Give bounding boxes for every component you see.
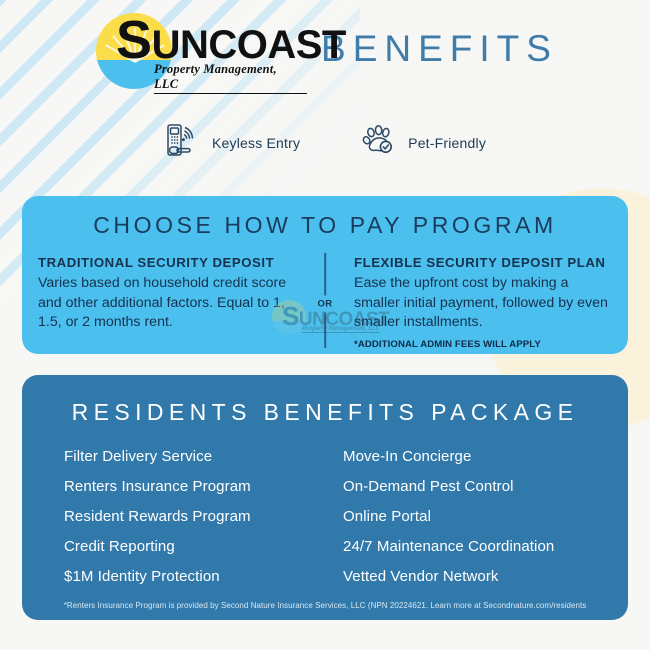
feature-pet-friendly: Pet-Friendly xyxy=(360,120,486,165)
pay-or-label: OR xyxy=(313,296,336,313)
pay-option-body: Varies based on household credit score a… xyxy=(38,274,296,333)
page-title: BENEFITS xyxy=(321,28,558,70)
feature-label: Keyless Entry xyxy=(212,135,300,151)
pay-option-traditional: TRADITIONAL SECURITY DEPOSIT Varies base… xyxy=(38,255,322,350)
pay-option-note: *ADDITIONAL ADMIN FEES WILL APPLY xyxy=(354,339,612,350)
residents-benefits-package-card: RESIDENTS BENEFITS PACKAGE Filter Delive… xyxy=(22,375,628,620)
list-item: 24/7 Maintenance Coordination xyxy=(343,538,586,555)
list-item: On-Demand Pest Control xyxy=(343,478,586,495)
pay-program-title: CHOOSE HOW TO PAY PROGRAM xyxy=(38,212,612,239)
paw-check-icon xyxy=(360,120,400,165)
list-item: Resident Rewards Program xyxy=(64,508,307,525)
list-item: Move-In Concierge xyxy=(343,448,586,465)
logo-wordmark: SUNCOAST xyxy=(116,17,346,65)
pay-option-body: Ease the upfront cost by making a smalle… xyxy=(354,274,612,333)
logo-word-rest: UNCOAST xyxy=(152,23,346,67)
rbp-disclaimer: *Renters Insurance Program is provided b… xyxy=(22,601,628,610)
rbp-right-column: Move-In Concierge On-Demand Pest Control… xyxy=(307,448,586,585)
pay-option-heading: FLEXIBLE SECURITY DEPOSIT PLAN xyxy=(354,255,612,270)
list-item: Filter Delivery Service xyxy=(64,448,307,465)
feature-badges: Keyless Entry Pet-Friendly xyxy=(0,120,650,165)
list-item: Renters Insurance Program xyxy=(64,478,307,495)
logo-tagline: Property Management, LLC xyxy=(154,62,307,94)
choose-how-to-pay-card: CHOOSE HOW TO PAY PROGRAM OR TRADITIONAL… xyxy=(22,196,628,354)
pay-options: OR TRADITIONAL SECURITY DEPOSIT Varies b… xyxy=(38,255,612,350)
list-item: Credit Reporting xyxy=(64,538,307,555)
rbp-title: RESIDENTS BENEFITS PACKAGE xyxy=(42,399,608,426)
rbp-benefit-lists: Filter Delivery Service Renters Insuranc… xyxy=(42,448,608,585)
pay-option-flexible: FLEXIBLE SECURITY DEPOSIT PLAN Ease the … xyxy=(322,255,612,350)
pay-option-heading: TRADITIONAL SECURITY DEPOSIT xyxy=(38,255,296,270)
list-item: Vetted Vendor Network xyxy=(343,568,586,585)
feature-label: Pet-Friendly xyxy=(408,135,486,151)
keypad-lock-icon xyxy=(164,120,204,165)
list-item: Online Portal xyxy=(343,508,586,525)
page-header: SUNCOAST Property Management, LLC BENEFI… xyxy=(0,0,650,100)
logo-word-initial: S xyxy=(116,10,152,70)
list-item: $1M Identity Protection xyxy=(64,568,307,585)
rbp-left-column: Filter Delivery Service Renters Insuranc… xyxy=(64,448,307,585)
suncoast-logo: SUNCOAST Property Management, LLC xyxy=(92,7,307,93)
feature-keyless-entry: Keyless Entry xyxy=(164,120,300,165)
